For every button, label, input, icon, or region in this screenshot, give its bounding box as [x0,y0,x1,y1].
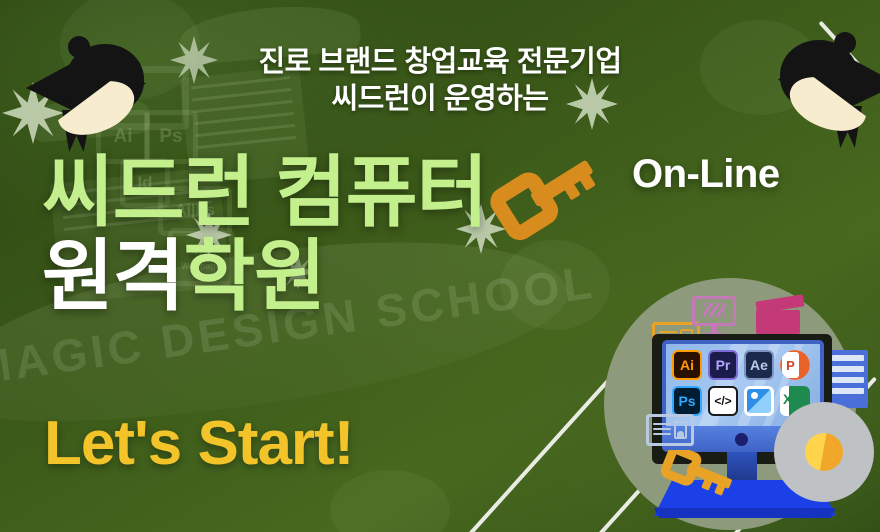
key-icon [480,143,610,253]
subtitle-line-1: 진로 브랜드 창업교육 전문기업 [0,44,880,81]
document-list-icon [828,350,868,408]
subtitle: 진로 브랜드 창업교육 전문기업 씨드런이 운영하는 [0,44,880,118]
app-icon-blue-tile[interactable] [744,386,774,416]
key-icon [658,450,736,498]
app-icon-code-editor[interactable]: </> [708,386,738,416]
subtitle-line-2: 씨드런이 운영하는 [0,81,880,118]
bg-blob [330,470,450,532]
online-badge: On-Line [632,152,780,197]
app-icon-powerpoint[interactable]: P [780,350,810,380]
monitor-power-dot [735,433,748,446]
headline-line-2-green: 학원 [184,232,326,320]
headline-line-1: 씨드런 컴퓨터 [42,150,487,234]
cta-text: Let's Start! [44,408,353,479]
computer-illustration: Ai Pr Ae P Ps </> X [596,272,880,532]
bg-blob [500,240,610,330]
headline-line-2-white: 원격 [42,232,184,320]
app-icon-grid: Ai Pr Ae P Ps </> X [672,350,818,416]
lens-icon [774,402,874,502]
app-icon-excel-label: X [783,392,792,406]
headline: 씨드런 컴퓨터 원격학원 [42,150,487,318]
id-card-icon [646,414,694,446]
app-icon-powerpoint-label: P [782,352,799,378]
app-icon-premiere[interactable]: Pr [708,350,738,380]
clapperboard-icon [756,298,804,334]
headline-line-2: 원격학원 [42,234,487,318]
app-icon-after-effects[interactable]: Ae [744,350,774,380]
monitor-icon [692,296,736,336]
promo-banner: Ai Ps Id Ai|Ps </>Webpage MAGIC DESIGN S… [0,0,880,532]
app-icon-photoshop[interactable]: Ps [672,386,702,416]
monitor-base-edge [654,508,836,518]
app-icon-illustrator[interactable]: Ai [672,350,702,380]
